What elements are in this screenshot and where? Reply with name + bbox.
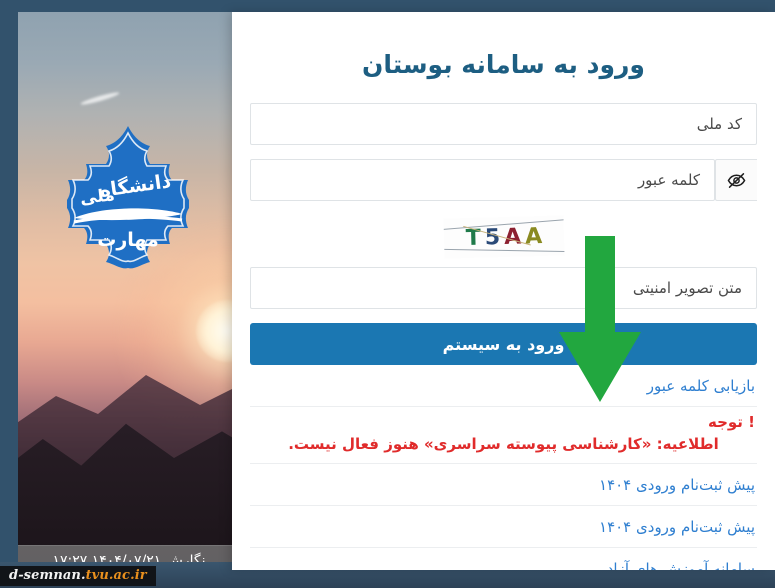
- toggle-password-visibility-button[interactable]: [715, 159, 757, 201]
- captcha-char-3: 5: [484, 225, 500, 250]
- eye-slash-icon: [727, 171, 746, 190]
- captcha-image[interactable]: A A 5 T: [443, 215, 564, 258]
- page-title: ورود به سامانه بوستان: [250, 50, 757, 79]
- preregister-row-1: پیش ثبت‌نام ورودی ۱۴۰۴: [250, 464, 757, 506]
- captcha-placeholder: متن تصویر امنیتی: [633, 279, 742, 297]
- free-education-row: سامانه آموزش های آزاد: [250, 548, 757, 570]
- login-submit-button[interactable]: ورود به سیستم: [250, 323, 757, 365]
- captcha-input[interactable]: متن تصویر امنیتی: [250, 267, 757, 309]
- recover-password-row: بازیابی کلمه عبور: [250, 365, 757, 407]
- notice-text: اطلاعیه: «کارشناسی پیوسته سراسری» هنوز ف…: [252, 434, 755, 454]
- password-input[interactable]: کلمه عبور: [250, 159, 715, 201]
- login-card: ورود به سامانه بوستان کد ملی: [232, 12, 775, 570]
- notice-title: ! توجه: [252, 413, 755, 431]
- preregister-1404-link-2[interactable]: پیش ثبت‌نام ورودی ۱۴۰۴: [599, 518, 755, 536]
- national-code-row: کد ملی: [250, 103, 757, 145]
- status-bar-url: d-semnan.tvu.ac.ir: [0, 566, 156, 586]
- cloud-streak: [80, 91, 120, 107]
- url-suffix: tvu.ac.ir: [86, 568, 147, 583]
- national-code-placeholder: کد ملی: [697, 115, 742, 133]
- preregister-1404-link-1[interactable]: پیش ثبت‌نام ورودی ۱۴۰۴: [599, 476, 755, 494]
- captcha-char-1: A: [524, 224, 542, 249]
- preregister-row-2: پیش ثبت‌نام ورودی ۱۴۰۴: [250, 506, 757, 548]
- svg-text:مهارت: مهارت: [97, 229, 158, 251]
- university-logo: دانشگاه ملی مهارت: [58, 122, 198, 272]
- password-placeholder: کلمه عبور: [638, 171, 700, 189]
- svg-text:ملی: ملی: [79, 185, 116, 209]
- notice-block: ! توجه اطلاعیه: «کارشناسی پیوسته سراسری»…: [250, 407, 757, 464]
- browser-viewport: دانشگاه ملی مهارت نگارش ۱۴۰۴/۰۷/۲۱ ۱۷:۲۷…: [0, 0, 775, 588]
- url-prefix: d-semnan.: [9, 568, 86, 583]
- national-code-input[interactable]: کد ملی: [250, 103, 757, 145]
- password-row: کلمه عبور: [250, 159, 757, 201]
- captcha-row: A A 5 T: [250, 215, 757, 259]
- free-education-system-link[interactable]: سامانه آموزش های آزاد: [607, 560, 755, 570]
- captcha-input-row: متن تصویر امنیتی: [250, 267, 757, 309]
- recover-password-link[interactable]: بازیابی کلمه عبور: [647, 377, 755, 395]
- captcha-noise-line: [443, 249, 564, 252]
